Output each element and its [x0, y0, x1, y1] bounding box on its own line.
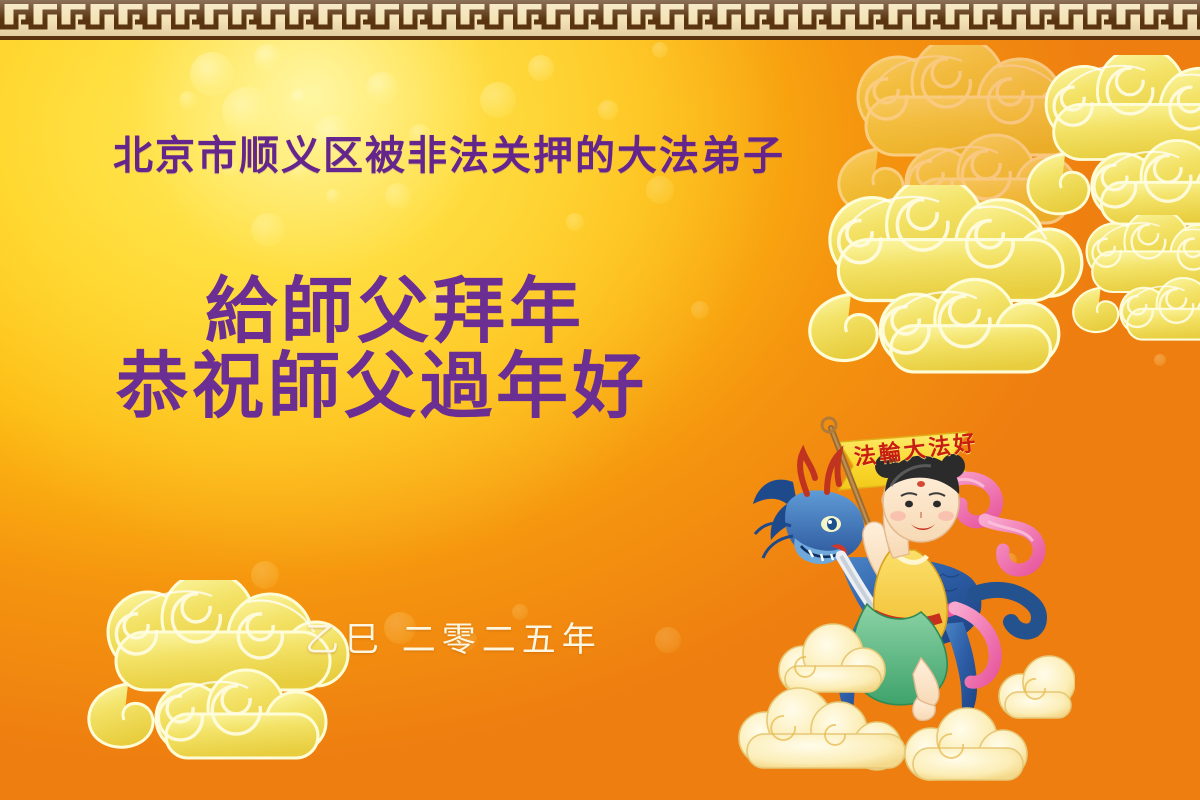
bokeh-dot	[290, 88, 310, 108]
bokeh-dot	[1154, 354, 1166, 366]
greeting-line-1: 給師父拜年	[205, 275, 585, 347]
bokeh-dot	[646, 176, 674, 204]
bokeh-dot	[222, 87, 272, 137]
new-year-greeting-card: 北京市顺义区被非法关押的大法弟子 給師父拜年 恭祝師父過年好 乙巳 二零二五年	[0, 0, 1200, 800]
bokeh-dot	[209, 583, 227, 601]
lunar-date-label: 乙巳 二零二五年	[305, 612, 602, 661]
bokeh-dot	[251, 561, 279, 589]
illustration-svg	[735, 408, 1075, 800]
greeting-line-2: 恭祝師父過年好	[116, 350, 648, 422]
bokeh-dot	[813, 323, 827, 337]
cloud-top-right	[820, 45, 1120, 240]
bokeh-dot	[480, 82, 516, 118]
top-meander-border	[0, 0, 1200, 40]
bokeh-dot	[251, 213, 285, 247]
card-headline: 北京市顺义区被非法关押的大法弟子	[113, 136, 785, 176]
cloud-far-right	[1060, 215, 1200, 352]
cloud-right-upper	[1010, 55, 1200, 240]
child-riding-dragon-illustration	[735, 408, 1075, 800]
bokeh-dot	[179, 91, 197, 109]
bokeh-dot	[385, 183, 411, 209]
bokeh-dot	[190, 52, 234, 96]
bokeh-dot	[528, 55, 554, 81]
bokeh-dot	[655, 627, 681, 653]
bokeh-dot	[691, 301, 709, 319]
bokeh-dot	[652, 42, 668, 58]
cloud-mid-right	[790, 185, 1105, 390]
bokeh-dot	[366, 72, 398, 104]
bokeh-dot	[566, 213, 584, 231]
bokeh-dot	[326, 189, 340, 203]
greek-key-pattern	[0, 0, 1200, 32]
cloud-bottom-left	[70, 580, 370, 775]
bokeh-dot	[254, 44, 282, 72]
bokeh-dot	[1145, 308, 1165, 328]
bokeh-dot	[598, 100, 618, 120]
